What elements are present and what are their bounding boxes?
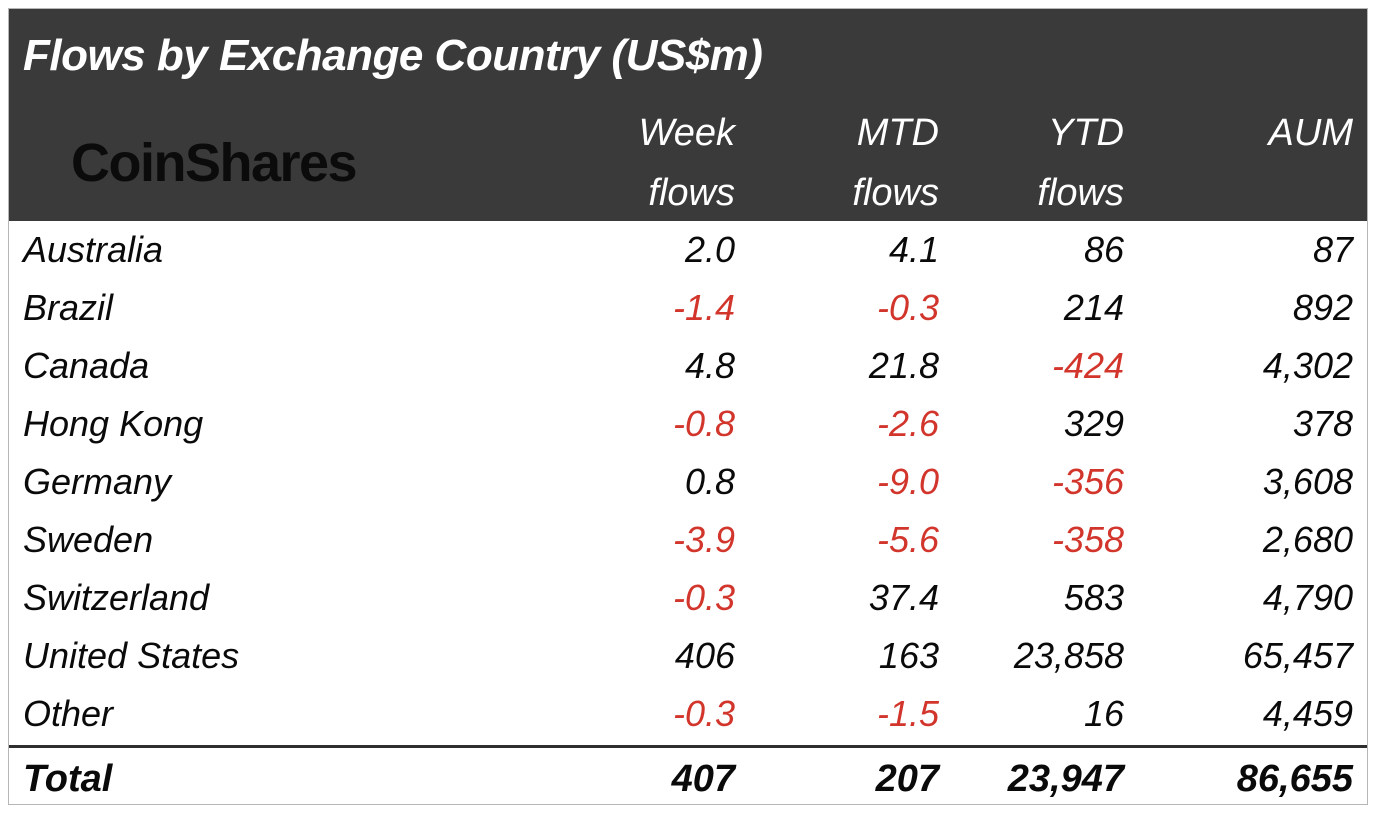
cell-ytd: 329 [1064,395,1124,453]
flows-table: Flows by Exchange Country (US$m) CoinSha… [8,8,1368,805]
cell-week: 406 [675,627,735,685]
column-header-aum: AUM [1269,103,1353,163]
row-country-label: Switzerland [23,569,209,627]
column-header-ytd-line2: flows [1037,163,1124,221]
cell-week: -0.3 [673,685,735,743]
column-header-ytd-line1: YTD [1037,103,1124,163]
column-headers: Week flows MTD flows YTD flows AUM [9,103,1367,221]
column-header-ytd: YTD flows [1037,103,1124,221]
total-aum: 86,655 [1237,748,1353,810]
cell-aum: 65,457 [1243,627,1353,685]
table-row: Canada4.821.8-4244,302 [9,337,1367,395]
cell-aum: 4,790 [1263,569,1353,627]
cell-week: 4.8 [685,337,735,395]
table-row: United States40616323,85865,457 [9,627,1367,685]
cell-ytd: 86 [1084,221,1124,279]
cell-ytd: -356 [1052,453,1124,511]
column-header-mtd-line1: MTD [852,103,939,163]
cell-ytd: 23,858 [1014,627,1124,685]
total-mtd: 207 [876,748,939,810]
table-row: Australia2.04.18687 [9,221,1367,279]
row-country-label: Other [23,685,113,743]
row-country-label: Germany [23,453,171,511]
cell-aum: 378 [1293,395,1353,453]
table-row-total: Total 407 207 23,947 86,655 [9,748,1367,810]
row-country-label: Brazil [23,279,113,337]
table-row: Switzerland-0.337.45834,790 [9,569,1367,627]
table-row: Brazil-1.4-0.3214892 [9,279,1367,337]
table-row: Germany0.8-9.0-3563,608 [9,453,1367,511]
table-header: Flows by Exchange Country (US$m) CoinSha… [9,9,1367,221]
cell-aum: 2,680 [1263,511,1353,569]
cell-week: -0.3 [673,569,735,627]
total-week: 407 [672,748,735,810]
cell-mtd: 37.4 [869,569,939,627]
column-header-week-line2: flows [639,163,735,221]
cell-ytd: -424 [1052,337,1124,395]
cell-mtd: -2.6 [877,395,939,453]
column-header-mtd: MTD flows [852,103,939,221]
cell-ytd: 214 [1064,279,1124,337]
column-header-mtd-line2: flows [852,163,939,221]
cell-aum: 4,302 [1263,337,1353,395]
total-ytd: 23,947 [1008,748,1124,810]
cell-mtd: 21.8 [869,337,939,395]
cell-week: -3.9 [673,511,735,569]
row-country-label: Canada [23,337,149,395]
cell-mtd: -0.3 [877,279,939,337]
table-row: Sweden-3.9-5.6-3582,680 [9,511,1367,569]
cell-week: 2.0 [685,221,735,279]
cell-aum: 87 [1313,221,1353,279]
row-country-label: Australia [23,221,163,279]
cell-week: -1.4 [673,279,735,337]
column-header-week-line1: Week [639,103,735,163]
cell-aum: 892 [1293,279,1353,337]
table-row: Hong Kong-0.8-2.6329378 [9,395,1367,453]
page-title: Flows by Exchange Country (US$m) [23,31,762,81]
cell-ytd: 583 [1064,569,1124,627]
column-header-week: Week flows [639,103,735,221]
cell-aum: 4,459 [1263,685,1353,743]
table-body: Australia2.04.18687Brazil-1.4-0.3214892C… [9,221,1367,743]
cell-mtd: -1.5 [877,685,939,743]
cell-mtd: 163 [879,627,939,685]
cell-week: 0.8 [685,453,735,511]
cell-week: -0.8 [673,395,735,453]
cell-mtd: 4.1 [889,221,939,279]
table-row: Other-0.3-1.5164,459 [9,685,1367,743]
row-country-label: Sweden [23,511,153,569]
cell-ytd: -358 [1052,511,1124,569]
cell-mtd: -9.0 [877,453,939,511]
row-country-label: Hong Kong [23,395,203,453]
cell-ytd: 16 [1084,685,1124,743]
cell-aum: 3,608 [1263,453,1353,511]
total-label: Total [23,748,112,810]
column-header-aum-line2: AUM [1269,103,1353,163]
row-country-label: United States [23,627,239,685]
cell-mtd: -5.6 [877,511,939,569]
